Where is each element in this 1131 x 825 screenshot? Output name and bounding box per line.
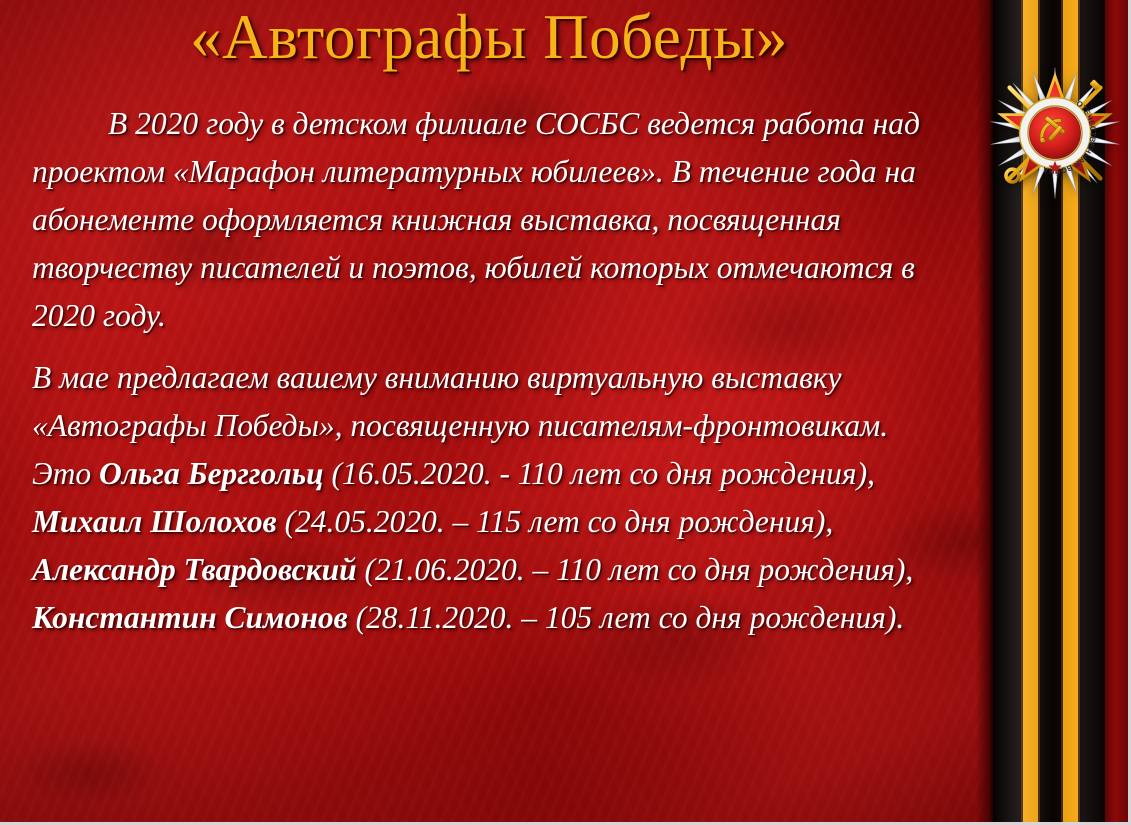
olga-berggolts-anniversary: (16.05.2020. - 110 лет со дня рождения), — [324, 456, 875, 491]
paragraph-project-description: В 2020 году в детском филиале СОСБС веде… — [32, 100, 952, 340]
author-name-mikhail-sholokhov: Михаил Шолохов — [32, 504, 277, 539]
konstantin-simonov-anniversary: (28.11.2020. – 105 лет со дня рождения). — [348, 600, 905, 635]
order-of-patriotic-war-icon: ОТЕЧЕСТВЕННАЯ ВОЙНА — [984, 62, 1126, 204]
author-name-olga-berggolts: Ольга Берггольц — [99, 456, 324, 491]
mikhail-sholokhov-anniversary: (24.05.2020. – 115 лет со дня рождения), — [277, 504, 834, 539]
author-name-aleksandr-tvardovsky: Александр Твардовский — [32, 552, 357, 587]
slide-canvas: ОТЕЧЕСТВЕННАЯ ВОЙНА «Автографы Победы» В… — [0, 0, 1131, 825]
aleksandr-tvardovsky-anniversary: (21.06.2020. – 110 лет со дня рождения), — [357, 552, 914, 587]
body-text: В 2020 году в детском филиале СОСБС веде… — [32, 100, 952, 654]
page-title: «Автографы Победы» — [0, 4, 978, 70]
paragraph-exhibition-announcement: В мае предлагаем вашему вниманию виртуал… — [32, 354, 952, 642]
author-name-konstantin-simonov: Константин Симонов — [32, 600, 348, 635]
